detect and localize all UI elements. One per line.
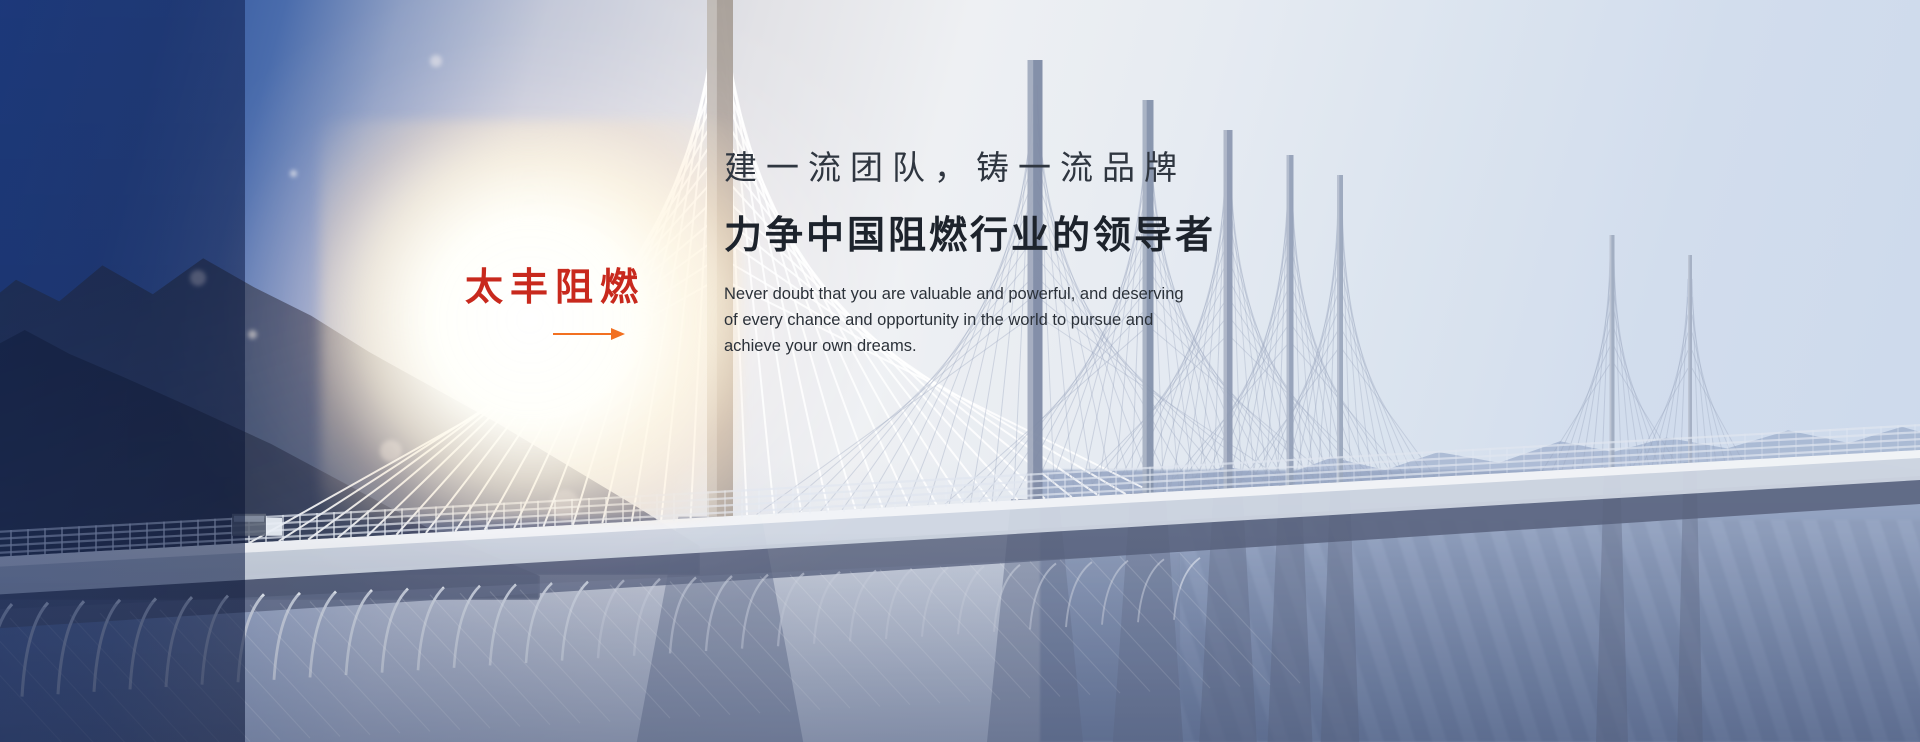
hero-subtext-line: achieve your own dreams. [724, 333, 1194, 359]
arrow-right-icon [553, 328, 625, 340]
hero-banner: 太丰阻燃 建一流团队，铸一流品牌 力争中国阻燃行业的领导者 Never doub… [0, 0, 1920, 742]
hero-copy: 建一流团队，铸一流品牌 力争中国阻燃行业的领导者 Never doubt tha… [724, 150, 1484, 359]
hero-headline-primary: 建一流团队，铸一流品牌 [724, 150, 1484, 190]
left-navy-band-tint [0, 0, 245, 742]
hero-headline-secondary: 力争中国阻燃行业的领导者 [724, 212, 1484, 260]
valley-fields [1180, 520, 1920, 742]
brand-logo-text: 太丰阻燃 [465, 268, 705, 306]
arrow-shaft [553, 333, 617, 335]
hero-subtext-line: Never doubt that you are valuable and po… [724, 281, 1194, 307]
hero-subtext: Never doubt that you are valuable and po… [724, 281, 1194, 359]
brand-logo[interactable]: 太丰阻燃 [465, 268, 705, 340]
hero-subtext-line: of every chance and opportunity in the w… [724, 307, 1194, 333]
arrow-head [611, 328, 625, 340]
